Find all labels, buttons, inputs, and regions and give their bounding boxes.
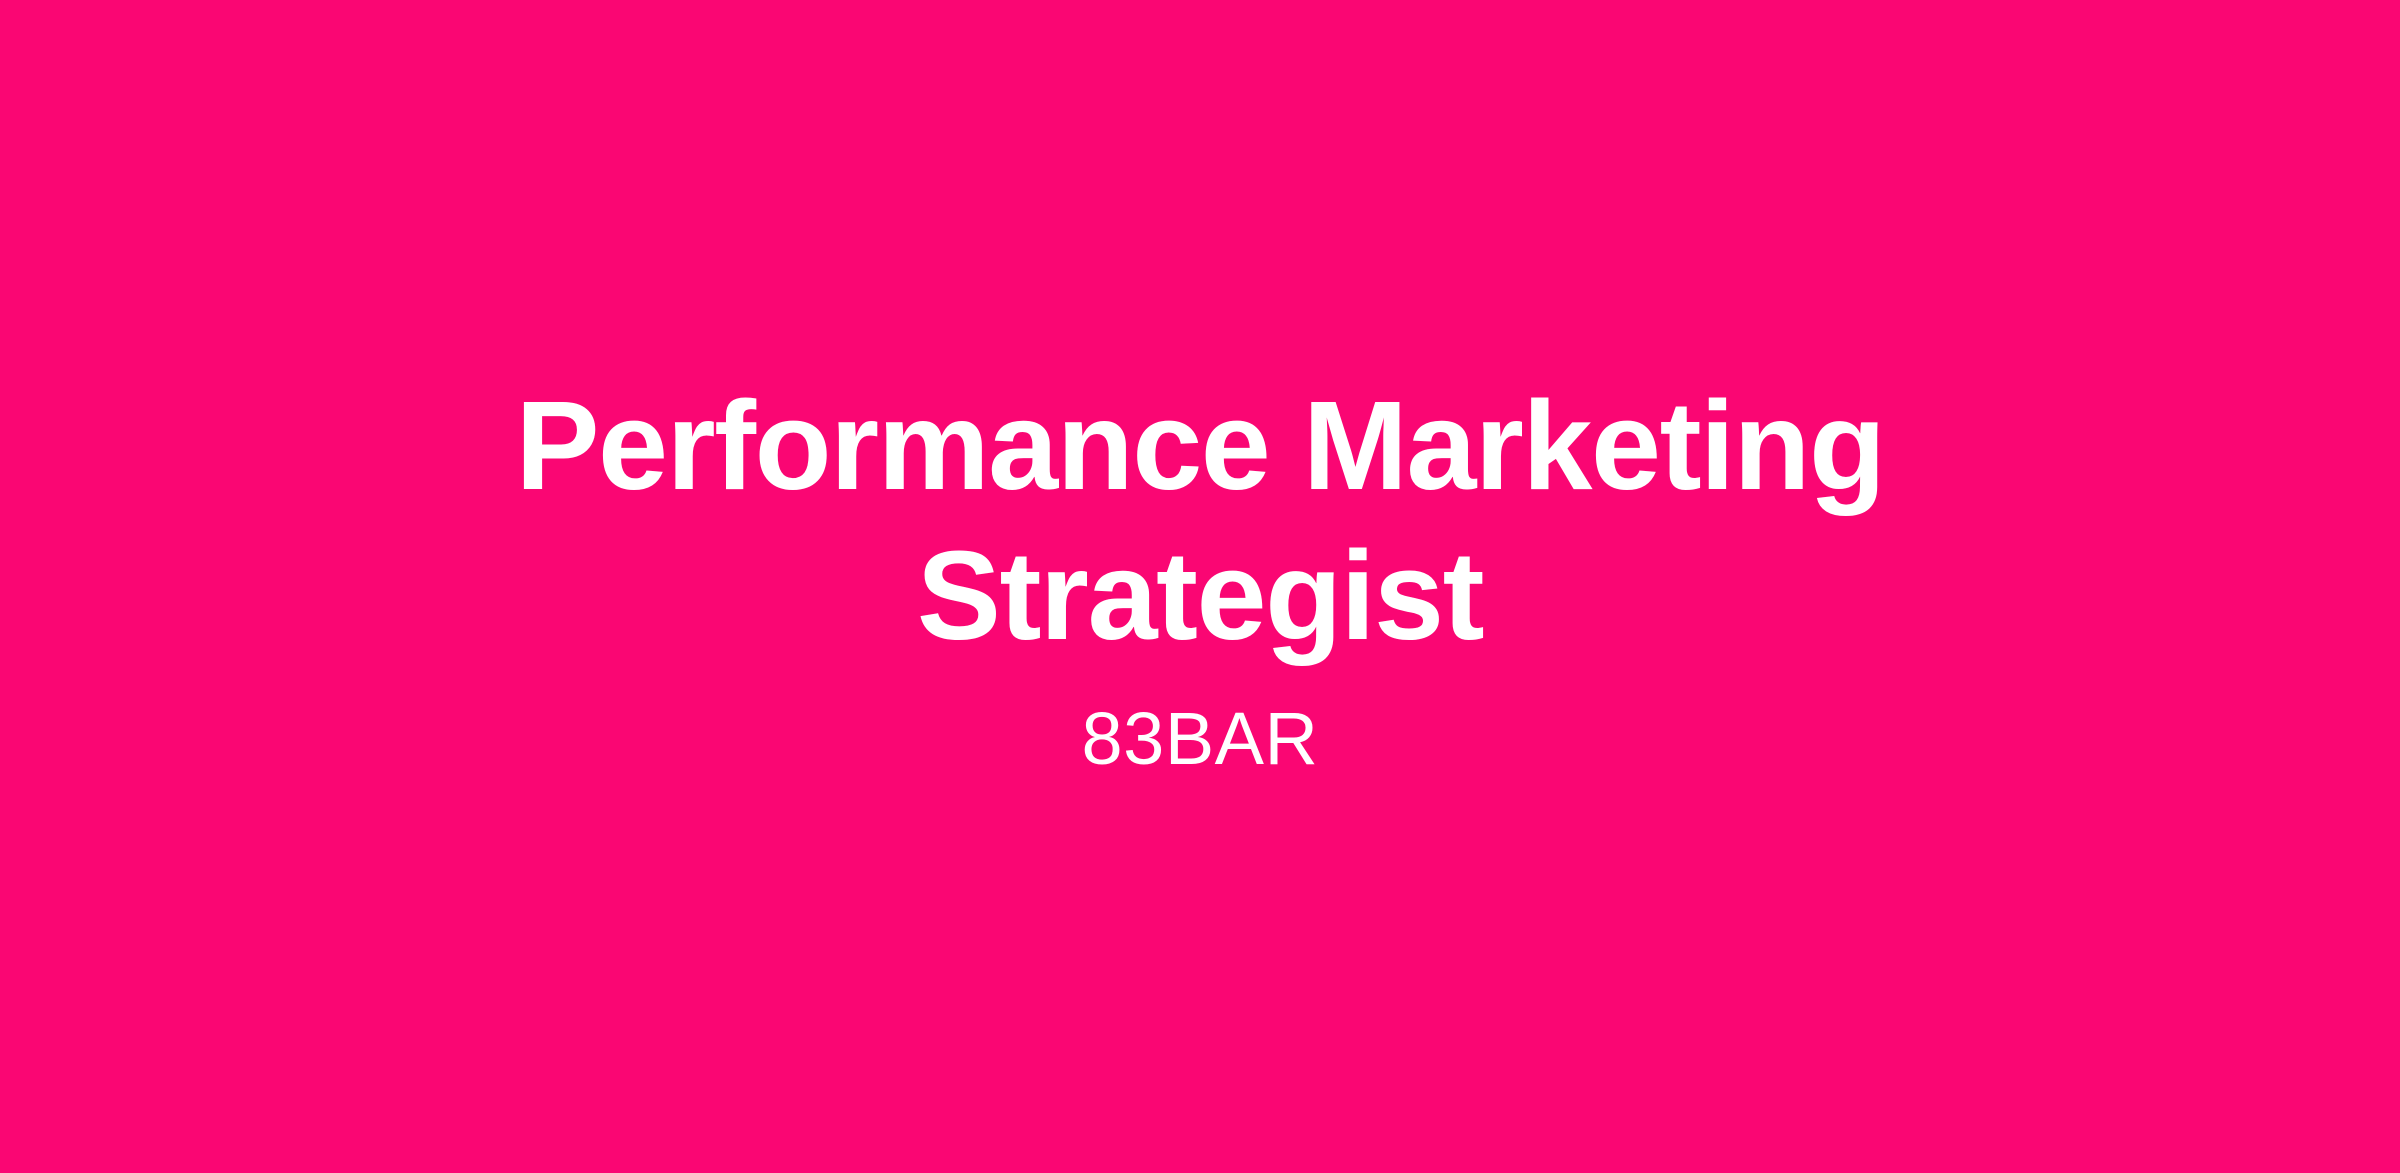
job-posting-card: Performance Marketing Strategist 83BAR — [0, 0, 2400, 1173]
job-card-content: Performance Marketing Strategist 83BAR — [490, 371, 1910, 785]
company-name: 83BAR — [1082, 693, 1319, 785]
job-title: Performance Marketing Strategist — [490, 371, 1910, 671]
